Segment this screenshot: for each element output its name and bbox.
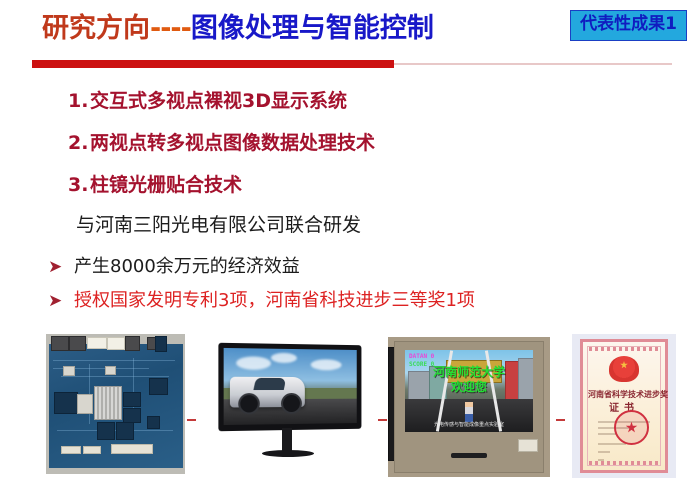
arrow-bullet-icon: ➤ xyxy=(48,250,74,284)
official-seal-icon xyxy=(614,410,649,445)
display-speaker xyxy=(451,453,487,458)
large-3d-display-photo: DATAN 0 SCORE 0 河南师范大学 欢迎您 光电传感与智能成像重点实验… xyxy=(388,337,550,477)
hud-line-1: DATAN 0 xyxy=(409,353,434,361)
pcb-label xyxy=(107,337,125,350)
pcb-label xyxy=(87,337,107,349)
bullet-list: ➤ 产生8000余万元的经济效益 ➤ 授权国家发明专利3项，河南省科技进步三等奖… xyxy=(48,250,668,318)
certificate-paper: 河南省科学技术进步奖 证书 xyxy=(580,339,668,473)
tv-racecar-wheel xyxy=(281,393,302,414)
seal-star-icon xyxy=(626,422,638,434)
photo-strip: DATAN 0 SCORE 0 河南师范大学 欢迎您 光电传感与智能成像重点实验… xyxy=(0,334,695,481)
pcb-chip xyxy=(147,416,160,429)
pcb-substrate xyxy=(49,344,183,468)
list-item: 1.交互式多视点裸视3D显示系统 xyxy=(68,80,628,122)
avatar xyxy=(465,402,473,422)
list-item: ➤ 产生8000余万元的经济效益 xyxy=(48,250,668,284)
tv-racecar-wheel xyxy=(238,393,260,415)
partner-collaboration-text: 与河南三阳光电有限公司联合研发 xyxy=(76,209,361,241)
arrow-bullet-icon: ➤ xyxy=(48,284,74,318)
list-item-index: 1. xyxy=(68,80,90,122)
page-title: 研究方向----图像处理与智能控制 xyxy=(42,8,434,49)
pcb-heatsink xyxy=(94,386,122,420)
greeting-line-1: 河南师范大学 xyxy=(433,365,505,379)
pcb-chip xyxy=(63,366,75,376)
list-item: 2.两视点转多视点图像数据处理技术 xyxy=(68,122,628,164)
pcb-chip xyxy=(155,336,167,352)
header-divider xyxy=(32,60,672,68)
display-screen-caption: 光电传感与智能成像重点实验室 xyxy=(405,422,533,429)
list-item-label: 柱镜光栅贴合技术 xyxy=(90,174,242,196)
emblem-star-icon xyxy=(620,361,628,369)
pcb-connector xyxy=(61,446,81,454)
divider-thin-line xyxy=(394,63,672,65)
divider-tick xyxy=(556,419,565,421)
circuit-board-photo xyxy=(46,334,185,474)
tv-screen xyxy=(224,348,357,425)
pcb-chip xyxy=(149,378,168,395)
divider-tick xyxy=(378,419,387,421)
pcb-chip xyxy=(77,394,93,414)
certificate-inner-frame: 河南省科学技术进步奖 证书 xyxy=(587,346,661,466)
bullet-label: 授权国家发明专利3项，河南省科技进步三等奖1项 xyxy=(74,284,475,318)
award-certificate-photo: 河南省科学技术进步奖 证书 xyxy=(572,334,676,478)
pcb-chip xyxy=(116,422,134,440)
pcb-port xyxy=(51,336,69,351)
list-item-label: 交互式多视点裸视3D显示系统 xyxy=(90,90,347,112)
list-item-index: 3. xyxy=(68,164,90,206)
pcb-connector xyxy=(83,446,101,454)
status-badge: 代表性成果1 xyxy=(570,10,687,41)
tv-racecar-window xyxy=(253,378,286,390)
slide-canvas: 研究方向----图像处理与智能控制 代表性成果1 1.交互式多视点裸视3D显示系… xyxy=(0,0,695,481)
title-dashes-segment: ---- xyxy=(150,13,191,44)
pcb-connector xyxy=(111,444,153,454)
pcb-port xyxy=(125,336,140,351)
pcb-chip xyxy=(123,392,141,407)
divider-tick xyxy=(187,419,196,421)
pcb-chip xyxy=(123,408,141,423)
title-research-segment: 研究方向 xyxy=(42,13,150,44)
slide-header: 研究方向----图像处理与智能控制 代表性成果1 xyxy=(0,8,695,52)
title-topic-segment: 图像处理与智能控制 xyxy=(191,13,434,44)
display-tag xyxy=(518,439,538,452)
tv-stand-neck xyxy=(282,428,292,452)
display-greeting: 河南师范大学 欢迎您 xyxy=(405,365,533,395)
list-item: 3.柱镜光栅贴合技术 xyxy=(68,164,628,206)
display-screen: DATAN 0 SCORE 0 河南师范大学 欢迎您 光电传感与智能成像重点实验… xyxy=(405,350,533,432)
certificate-title: 河南省科学技术进步奖 xyxy=(588,389,660,400)
pcb-port xyxy=(69,336,86,351)
pcb-chip xyxy=(105,366,116,375)
list-item-label: 两视点转多视点图像数据处理技术 xyxy=(90,132,375,154)
pcb-chip xyxy=(54,392,78,414)
bullet-label: 产生8000余万元的经济效益 xyxy=(74,250,300,284)
divider-thick-bar xyxy=(32,60,394,68)
tv-stand-base xyxy=(262,450,314,457)
3d-tv-display-photo xyxy=(212,336,372,477)
tv-frame xyxy=(218,343,361,432)
national-emblem-icon xyxy=(609,356,639,382)
numbered-list: 1.交互式多视点裸视3D显示系统 2.两视点转多视点图像数据处理技术 3.柱镜光… xyxy=(68,80,628,206)
list-item-index: 2. xyxy=(68,122,90,164)
greeting-line-2: 欢迎您 xyxy=(405,380,533,395)
pcb-chip xyxy=(97,422,115,440)
display-bezel: DATAN 0 SCORE 0 河南师范大学 欢迎您 光电传感与智能成像重点实验… xyxy=(394,341,544,473)
list-item: ➤ 授权国家发明专利3项，河南省科技进步三等奖1项 xyxy=(48,284,668,318)
